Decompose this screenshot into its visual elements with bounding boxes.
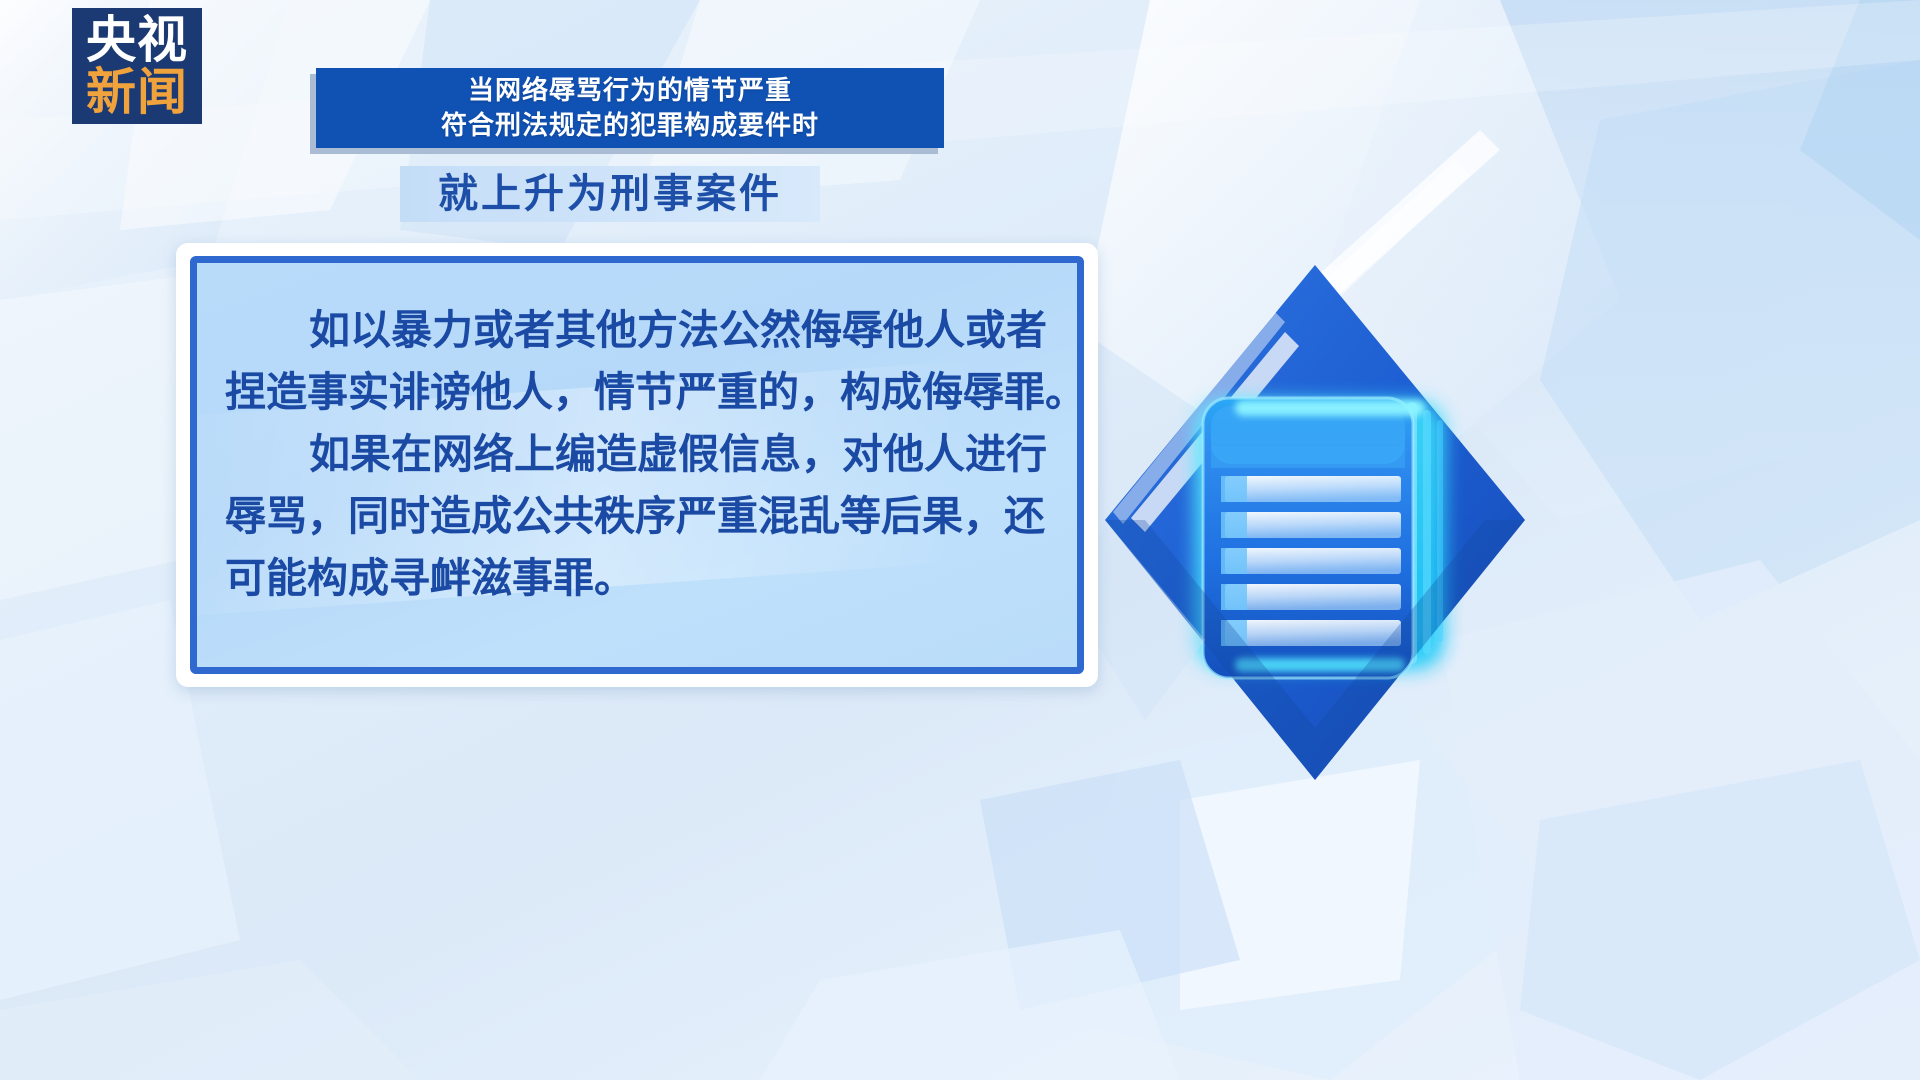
document-diamond-graphic <box>1085 250 1545 810</box>
body-line-4: 辱骂，同时造成公共秩序严重混乱等后果，还 <box>225 485 1045 547</box>
body-line-1: 如以暴力或者其他方法公然侮辱他人或者 <box>225 299 1045 361</box>
cctv-news-logo: 央视 新闻 <box>72 8 202 124</box>
headline-banner: 当网络辱骂行为的情节严重 符合刑法规定的犯罪构成要件时 <box>316 68 944 148</box>
subheadline-text: 就上升为刑事案件 <box>438 174 782 214</box>
body-line-3: 如果在网络上编造虚假信息，对他人进行 <box>225 423 1045 485</box>
document-lines-icon <box>1221 476 1401 646</box>
headline-line-1: 当网络辱骂行为的情节严重 <box>468 73 792 108</box>
body-text-block: 如以暴力或者其他方法公然侮辱他人或者 捏造事实诽谤他人，情节严重的，构成侮辱罪。… <box>197 263 1077 609</box>
body-card-inner: 如以暴力或者其他方法公然侮辱他人或者 捏造事实诽谤他人，情节严重的，构成侮辱罪。… <box>190 256 1084 674</box>
body-card: 如以暴力或者其他方法公然侮辱他人或者 捏造事实诽谤他人，情节严重的，构成侮辱罪。… <box>176 243 1098 687</box>
headline-box: 当网络辱骂行为的情节严重 符合刑法规定的犯罪构成要件时 <box>316 68 944 148</box>
logo-line-bottom: 新闻 <box>86 67 188 117</box>
body-line-2: 捏造事实诽谤他人，情节严重的，构成侮辱罪。 <box>225 361 1045 423</box>
logo-line-top: 央视 <box>86 15 188 65</box>
news-graphic-stage: 央视 新闻 当网络辱骂行为的情节严重 符合刑法规定的犯罪构成要件时 就上升为刑事… <box>0 0 1920 1080</box>
headline-line-2: 符合刑法规定的犯罪构成要件时 <box>441 108 819 143</box>
body-line-5: 可能构成寻衅滋事罪。 <box>225 547 1045 609</box>
subheadline-banner: 就上升为刑事案件 <box>400 166 820 222</box>
